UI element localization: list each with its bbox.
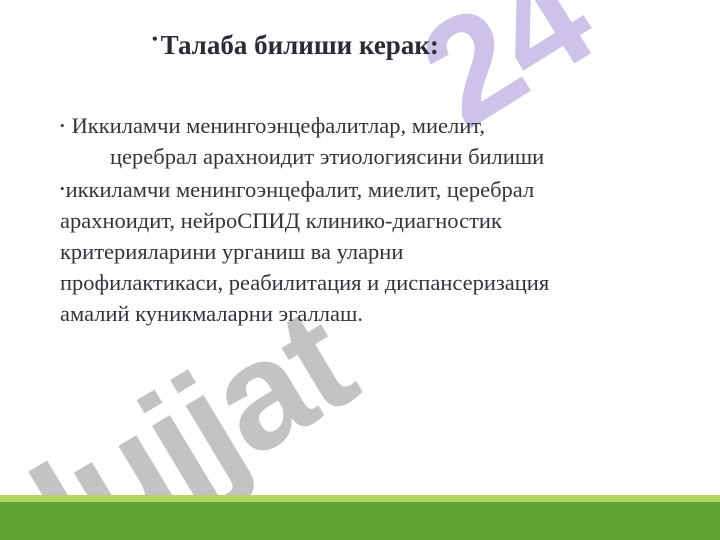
- slide-body: •Иккиламчи менингоэнцефалитлар, миелит, …: [60, 110, 708, 329]
- footer-bar: [0, 502, 720, 540]
- title-bullet-icon: •: [152, 32, 158, 48]
- title-text: Талаба билиши керак:: [161, 30, 439, 61]
- bullet-item-2-line-3: критерияларини урганиш ва уларни: [60, 236, 708, 267]
- bullet-item-2-line-5: амалий куникмаларни эгаллаш.: [60, 298, 708, 329]
- bullet-item-1-line-2: церебрал арахноидит этиологиясини билиши: [78, 141, 708, 172]
- bullet-item-2-line-2: арахноидит, нейроСПИД клинико-диагностик: [60, 205, 708, 236]
- slide-canvas: 24 Hujjat • Талаба билиши керак: •Иккила…: [0, 0, 720, 540]
- bullet-item-1-line-1: Иккиламчи менингоэнцефалитлар, миелит,: [72, 113, 485, 138]
- bullet-item-1: •Иккиламчи менингоэнцефалитлар, миелит, …: [60, 110, 708, 172]
- slide-title: • Талаба билиши керак:: [152, 30, 582, 61]
- slide-content: • Талаба билиши керак: •Иккиламчи менинг…: [0, 0, 720, 496]
- bullet-marker-icon: •: [60, 118, 72, 133]
- bullet-item-2-line-1: иккиламчи менингоэнцефалит, миелит, цере…: [66, 177, 535, 202]
- footer-accent-bar: [0, 495, 720, 502]
- bullet-item-2-line-4: профилактикаси, реабилитация и диспансер…: [60, 267, 708, 298]
- title-line: • Талаба билиши керак:: [152, 30, 582, 61]
- bullet-item-2: •иккиламчи менингоэнцефалит, миелит, цер…: [60, 174, 708, 329]
